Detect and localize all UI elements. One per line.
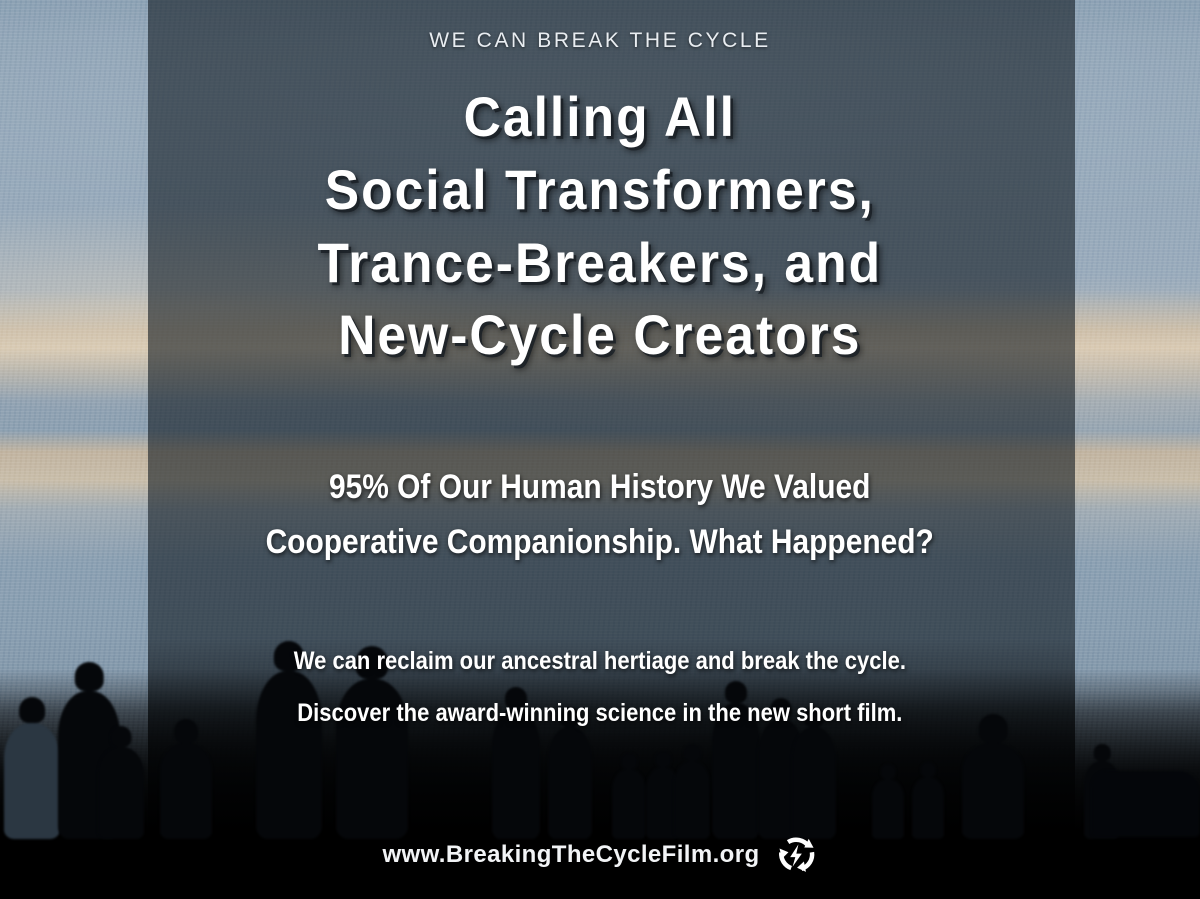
- body-copy-line-1: We can reclaim our ancestral hertiage an…: [294, 636, 906, 688]
- body-copy: We can reclaim our ancestral hertiage an…: [294, 636, 906, 739]
- subheadline-line-1: 95% Of Our Human History We Valued: [266, 460, 934, 515]
- subheadline: 95% Of Our Human History We Valued Coope…: [266, 460, 934, 570]
- headline-line-2: Social Transformers,: [318, 154, 883, 227]
- headline-line-3: Trance-Breakers, and: [318, 227, 883, 300]
- footer: www.BreakingTheCycleFilm.org: [0, 833, 1200, 877]
- poster-content: WE CAN BREAK THE CYCLE Calling All Socia…: [0, 0, 1200, 899]
- body-copy-line-2: Discover the award-winning science in th…: [294, 688, 906, 740]
- website-url[interactable]: www.BreakingTheCycleFilm.org: [382, 841, 759, 869]
- headline-line-1: Calling All: [318, 81, 883, 154]
- page-title: Calling All Social Transformers, Trance-…: [318, 81, 883, 372]
- headline-line-4: New-Cycle Creators: [318, 299, 883, 372]
- promo-poster: WE CAN BREAK THE CYCLE Calling All Socia…: [0, 0, 1200, 899]
- eyebrow-text: WE CAN BREAK THE CYCLE: [429, 29, 771, 53]
- subheadline-line-2: Cooperative Companionship. What Happened…: [266, 515, 934, 570]
- cycle-lightning-icon: [774, 833, 818, 877]
